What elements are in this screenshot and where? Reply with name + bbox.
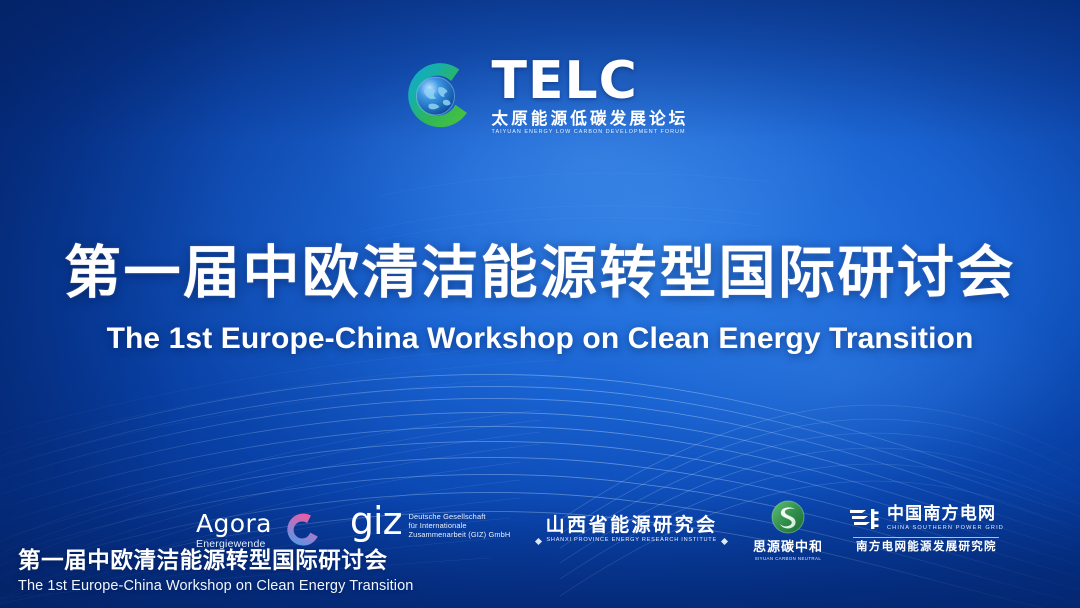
telc-logo-lockup: TELC 太原能源低碳发展论坛 TAIYUAN ENERGY LOW CARBO…: [392, 52, 689, 140]
sponsor-siyuan-carbon-neutral: 思源碳中和 SIYUAN CARBON NEUTRAL: [753, 494, 823, 566]
giz-desc-line-2: für Internationale: [409, 521, 511, 530]
telc-wordmark: TELC: [492, 58, 689, 106]
csg-text-group: 中国南方电网 CHINA SOUTHERN POWER GRID: [887, 506, 1004, 532]
corner-title-chinese: 第一届中欧清洁能源转型国际研讨会: [18, 548, 413, 575]
corner-title-block: 第一届中欧清洁能源转型国际研讨会 The 1st Europe-China Wo…: [18, 548, 413, 596]
giz-wordmark: giz: [350, 506, 402, 536]
siyuan-chinese-name: 思源碳中和: [753, 540, 823, 553]
sponsor-china-southern-power-grid: 中国南方电网 CHINA SOUTHERN POWER GRID 南方电网能源发…: [849, 494, 1004, 566]
headline-english: The 1st Europe-China Workshop on Clean E…: [0, 322, 1080, 355]
headline-chinese: 第一届中欧清洁能源转型国际研讨会: [0, 243, 1080, 305]
agora-name: Agora: [196, 511, 272, 536]
corner-title-english: The 1st Europe-China Workshop on Clean E…: [18, 577, 413, 596]
shanxi-divider: SHANXI PROVINCE ENERGY RESEARCH INSTITUT…: [536, 538, 727, 544]
giz-desc-line-3: Zusammenarbeit (GIZ) GmbH: [409, 530, 511, 539]
csg-top-row: 中国南方电网 CHINA SOUTHERN POWER GRID: [849, 506, 1004, 532]
shanxi-english-name: SHANXI PROVINCE ENERGY RESEARCH INSTITUT…: [546, 538, 717, 544]
csg-divider: [853, 537, 999, 538]
telc-english-name: TAIYUAN ENERGY LOW CARBON DEVELOPMENT FO…: [492, 130, 689, 135]
csg-grid-mark-icon: [849, 507, 879, 531]
telc-chinese-name: 太原能源低碳发展论坛: [492, 111, 689, 128]
agora-c-mark-icon: [280, 508, 324, 552]
telc-globe-c-mark-icon: [392, 52, 480, 140]
diamond-bullet-left-icon: [535, 537, 542, 544]
conference-backdrop: TELC 太原能源低碳发展论坛 TAIYUAN ENERGY LOW CARBO…: [0, 0, 1080, 608]
giz-description: Deutsche Gesellschaft für Internationale…: [409, 506, 511, 539]
csg-english-name: CHINA SOUTHERN POWER GRID: [887, 526, 1004, 532]
sponsor-shanxi-energy-research: 山西省能源研究会 SHANXI PROVINCE ENERGY RESEARCH…: [536, 494, 727, 566]
csg-chinese-name: 中国南方电网: [887, 506, 1004, 523]
siyuan-s-circle-mark-icon: [770, 499, 806, 535]
giz-desc-line-1: Deutsche Gesellschaft: [409, 512, 511, 521]
diamond-bullet-right-icon: [721, 537, 728, 544]
agora-text-group: Agora Energiewende: [196, 511, 272, 550]
siyuan-english-name: SIYUAN CARBON NEUTRAL: [755, 557, 821, 561]
csg-institute-name: 南方电网能源发展研究院: [856, 542, 997, 554]
shanxi-chinese-name: 山西省能源研究会: [546, 516, 718, 535]
telc-wordmark-group: TELC 太原能源低碳发展论坛 TAIYUAN ENERGY LOW CARBO…: [492, 56, 689, 136]
